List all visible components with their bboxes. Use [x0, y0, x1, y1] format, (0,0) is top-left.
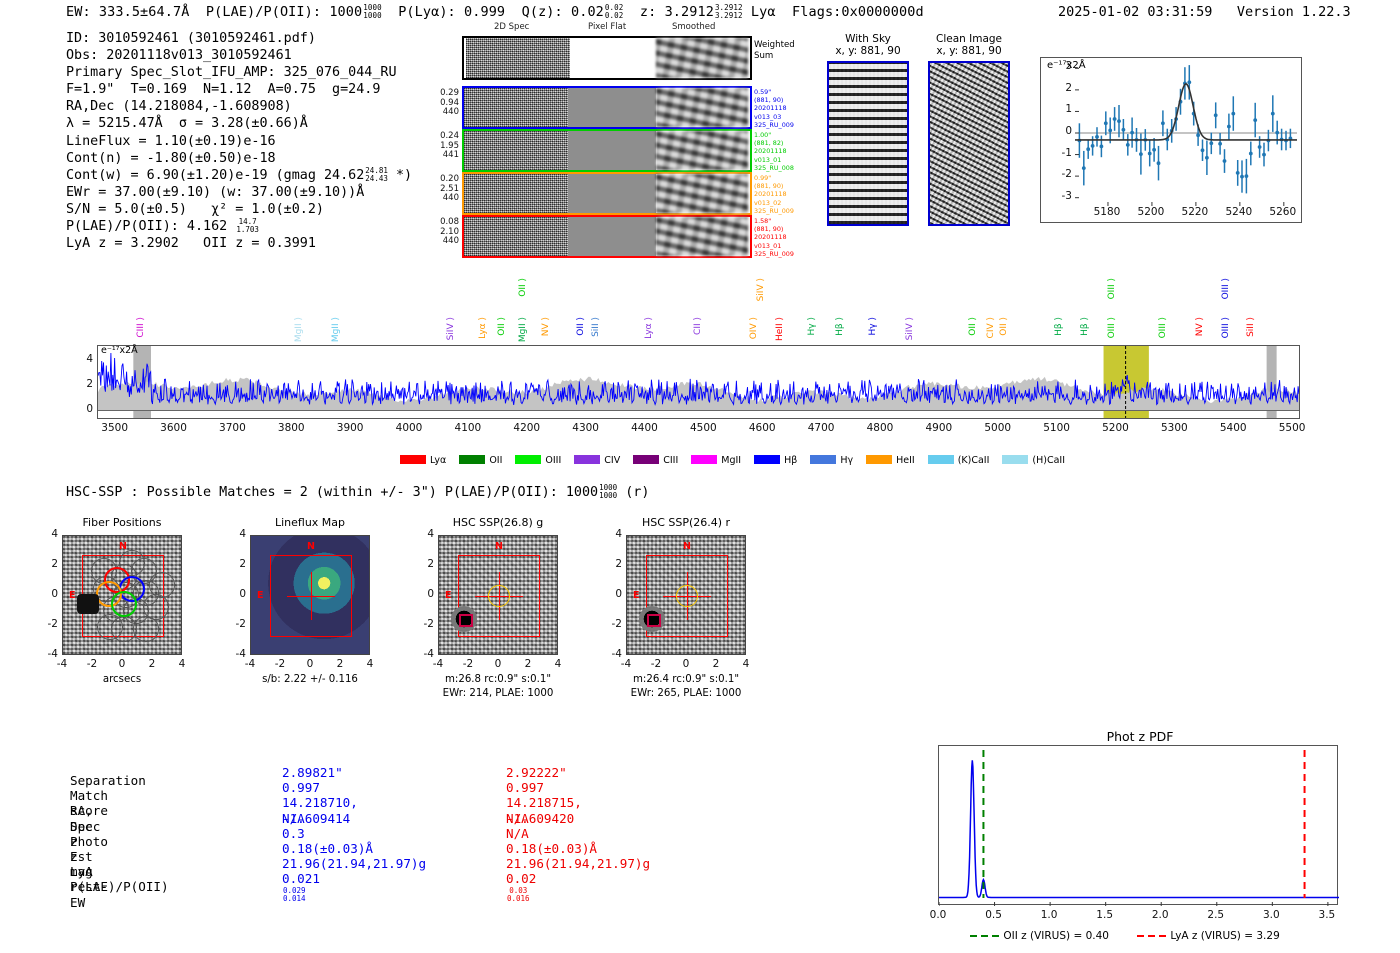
- linefit-ytick: 1: [1058, 103, 1072, 115]
- cutout-panel[interactable]: NE: [626, 535, 746, 655]
- compass-e: E: [257, 590, 264, 601]
- cutout-panel[interactable]: NE: [438, 535, 558, 655]
- cutout-ytick: 0: [42, 588, 58, 600]
- spectrum-xtick: 5500: [1267, 422, 1317, 434]
- linefit-xtick: 5200: [1133, 206, 1169, 218]
- match-row-label-plae: P(LAE)/P(OII): [70, 879, 169, 894]
- linefit-ytick: 2: [1058, 82, 1072, 94]
- clean-image-pixels: [928, 61, 1010, 226]
- spectrum-xtick: 4100: [443, 422, 493, 434]
- emission-line-fit-plot: e⁻¹⁷x2Å: [1040, 57, 1302, 223]
- spectrum-xtick: 3800: [266, 422, 316, 434]
- match-value-red: 0.997: [506, 780, 544, 795]
- clean-image-title: Clean Image: [920, 33, 1018, 45]
- full-spectrum-panel: CIII ⟩MgII ⟩MgII ⟩SiIV ⟩Lyα ⟩OII ⟩MgII ⟩…: [97, 270, 1302, 470]
- cutout-ytick: 4: [230, 528, 246, 540]
- photz-xtick: 1.0: [1031, 909, 1067, 921]
- spectrum-line-mark: MgII ⟩: [519, 317, 528, 342]
- spectrum-line-mark: OIII ⟩: [1159, 317, 1168, 338]
- qz-value: 0.02: [571, 4, 604, 20]
- cutout-ytick: -4: [606, 648, 622, 660]
- cutout-ytick: 2: [606, 558, 622, 570]
- compass-n: N: [683, 541, 691, 552]
- spectrum-line-mark: Hβ ⟩: [1055, 317, 1064, 336]
- spectrum-line-mark: OIII ⟩: [1108, 278, 1117, 299]
- with-sky-coords: x, y: 881, 90: [822, 45, 914, 57]
- legend-label: OIII: [545, 455, 561, 466]
- spectrum-line-mark: CIII ⟩: [137, 317, 146, 338]
- cutout-xtick: 4: [170, 658, 194, 670]
- legend-item: OIII: [515, 455, 561, 466]
- plya-label: P(Lyα):: [398, 4, 456, 20]
- spectrum-xtick: 5000: [973, 422, 1023, 434]
- header-summary-line: EW: 333.5±64.7Å P(LAE)/P(OII): 100010001…: [66, 4, 924, 20]
- match-value-blue: N/A: [282, 811, 305, 826]
- cutout-caption: arcsecs: [32, 673, 212, 686]
- legend-item: HeII: [866, 455, 915, 466]
- match-value-red: N/A: [506, 811, 529, 826]
- spectrum-xtick: 3600: [149, 422, 199, 434]
- cutout-xtick: 2: [704, 658, 728, 670]
- ew-value: 333.5±64.7Å: [99, 4, 190, 20]
- spectrum-line-mark: SiII ⟩: [592, 317, 601, 337]
- compass-n: N: [495, 541, 503, 552]
- aperture-circle: [488, 585, 510, 607]
- legend-label: CIV: [604, 455, 620, 466]
- spectrum-xtick: 4400: [620, 422, 670, 434]
- cutout-ytick: 0: [418, 588, 434, 600]
- with-sky-image: [827, 61, 909, 226]
- photz-xtick: 2.0: [1142, 909, 1178, 921]
- cutout-ytick: -4: [230, 648, 246, 660]
- spectrum-xtick: 3500: [90, 422, 140, 434]
- linefit-ytick: 3: [1058, 60, 1072, 72]
- spectrum-xtick: 5200: [1090, 422, 1140, 434]
- photz-svg: [939, 746, 1339, 906]
- legend-label: Lyα: [430, 455, 446, 466]
- spectrum-line-mark: Hβ ⟩: [836, 317, 845, 336]
- cutout-ytick: 2: [42, 558, 58, 570]
- photz-legend-item: LyA z (VIRUS) = 3.29: [1137, 930, 1280, 942]
- spectrum-xtick: 5400: [1208, 422, 1258, 434]
- plae-range: 10001000: [363, 4, 381, 20]
- cutout-xtick: 2: [328, 658, 352, 670]
- match-row-label: mag: [70, 864, 93, 879]
- match-value-red: 2.92222": [506, 765, 567, 780]
- cutout-xtick: 0: [298, 658, 322, 670]
- plya-value: 0.999: [464, 4, 505, 20]
- with-sky-title: With Sky: [822, 33, 914, 45]
- spectrum-line-mark: CII ⟩: [694, 317, 703, 335]
- fiber-circle-highlighted[interactable]: [111, 591, 137, 617]
- montage-row-meta: 0.99"(881, 90)20201118v013_02325_RU_009: [754, 174, 794, 215]
- spectrum-line-mark: Hβ ⟩: [1081, 317, 1090, 336]
- cutout-xtick: 4: [546, 658, 570, 670]
- match-value-red: N/A: [506, 826, 529, 841]
- spectrum-legend: LyαOIIOIIICIVCIIIMgIIHβHγHeII(K)CaII(H)C…: [400, 455, 1078, 466]
- linefit-ytick: -1: [1058, 147, 1072, 159]
- cutout-xtick: 0: [486, 658, 510, 670]
- spectrum-line-mark: NV ⟩: [542, 317, 551, 336]
- spectrum-xtick: 5100: [1032, 422, 1082, 434]
- legend-item: CIII: [633, 455, 678, 466]
- spectrum-xtick: 4200: [502, 422, 552, 434]
- photz-legend-label: LyA z (VIRUS) = 3.29: [1170, 930, 1279, 942]
- spectrum-line-mark: SiIV ⟩: [906, 317, 915, 340]
- info-plae-range: 14.71.703: [236, 218, 259, 234]
- montage-row-meta: 1.58"(881, 90)20201118v013_01325_RU_009: [754, 217, 794, 258]
- spectrum-xtick: 4500: [678, 422, 728, 434]
- fiber-circle: [97, 614, 123, 640]
- spectrum-svg: [98, 346, 1299, 418]
- info-plae: P(LAE)/P(OII): 4.162 14.71.703: [66, 218, 412, 235]
- photz-xtick: 1.5: [1087, 909, 1123, 921]
- linefit-xtick: 5220: [1177, 206, 1213, 218]
- with-sky-cutout: With Sky x, y: 881, 90: [822, 33, 914, 226]
- spectrum-flux-unit: e⁻¹⁷x2Å: [101, 345, 138, 356]
- z-line-name: Lyα: [751, 4, 776, 20]
- spectrum-xtick: 3900: [325, 422, 375, 434]
- legend-item: Hγ: [810, 455, 853, 466]
- cutout-ytick: 0: [606, 588, 622, 600]
- photz-legend: OII z (VIRUS) = 0.40 LyA z (VIRUS) = 3.2…: [970, 930, 1308, 942]
- photz-xtick: 3.0: [1253, 909, 1289, 921]
- plae-value: 1000: [329, 4, 362, 20]
- match-row-label: Separation: [70, 773, 146, 788]
- spectrum-axes: e⁻¹⁷x2Å: [97, 345, 1300, 419]
- cutout-xtick: -2: [456, 658, 480, 670]
- cutout-caption: m:26.4 rc:0.9" s:0.1": [596, 673, 776, 686]
- cutout-xtick: 2: [140, 658, 164, 670]
- linefit-ytick: 0: [1058, 125, 1072, 137]
- info-lineflux: LineFlux = 1.10(±0.19)e-16: [66, 133, 412, 150]
- cutout-xtick: 2: [516, 658, 540, 670]
- legend-item: Hβ: [754, 455, 797, 466]
- cutout-xtick: 4: [734, 658, 758, 670]
- spectrum-xtick: 4900: [914, 422, 964, 434]
- legend-label: HeII: [896, 455, 915, 466]
- compass-e: E: [445, 590, 452, 601]
- spectrum-line-mark: Hγ ⟩: [869, 317, 878, 335]
- spectrum-line-mark: NV ⟩: [1196, 317, 1205, 336]
- montage-row: 0.241.954411.00"(881, 82)20201118v013_01…: [462, 129, 752, 172]
- version-label: Version 1.22.3: [1237, 4, 1351, 20]
- cutout-ytick: -2: [606, 618, 622, 630]
- aperture-circle: [676, 585, 698, 607]
- photz-xtick: 0.5: [976, 909, 1012, 921]
- spectrum-line-mark: Hγ ⟩: [808, 317, 817, 335]
- match-value-red: 0.18(±0.03)Å: [506, 841, 597, 856]
- legend-label: CIII: [663, 455, 678, 466]
- info-snr-chi2: S/N = 5.0(±0.5) χ² = 1.0(±0.2): [66, 201, 412, 218]
- match-value-blue: 0.997: [282, 780, 320, 795]
- spectrum-line-mark: Lyα ⟩: [645, 317, 654, 339]
- fiber-circle: [149, 572, 175, 598]
- cutout-ytick: -2: [42, 618, 58, 630]
- match-value-blue: 0.3: [282, 826, 305, 841]
- cutout-panel[interactable]: NE: [62, 535, 182, 655]
- legend-label: OII: [489, 455, 502, 466]
- spectrum-xtick: 4800: [855, 422, 905, 434]
- photz-legend-item: OII z (VIRUS) = 0.40: [970, 930, 1109, 942]
- spectrum-line-mark: OIV ⟩: [750, 317, 759, 339]
- z-label: z:: [640, 4, 656, 20]
- linefit-xtick: 5260: [1265, 206, 1301, 218]
- match-plae-blue: 0.0210.0290.014: [282, 871, 320, 903]
- spectrum-ytick: 2: [75, 378, 93, 390]
- spectrum-ytick: 4: [75, 353, 93, 365]
- qz-range: 0.020.02: [605, 4, 623, 20]
- compass-e: E: [633, 590, 640, 601]
- photz-xtick: 0.0: [920, 909, 956, 921]
- match-value-blue: 2.89821": [282, 765, 343, 780]
- col-header-smoothed: Smoothed: [672, 22, 715, 32]
- spectrum-line-mark: OII ⟩: [1000, 317, 1009, 336]
- info-seeing: F=1.9" T=0.169 N=1.12 A=0.75 g=24.9: [66, 81, 412, 98]
- legend-label: Hγ: [840, 455, 853, 466]
- match-marker: [459, 614, 473, 627]
- spectrum-line-mark: OII ⟩: [577, 317, 586, 336]
- info-cont-n: Cont(n) = -1.80(±0.50)e-18: [66, 150, 412, 167]
- emission-line-fit-svg: [1041, 58, 1303, 224]
- target-crosshair-v: [311, 572, 312, 620]
- spectrum-xtick: 5300: [1149, 422, 1199, 434]
- spectrum-line-mark: OII ⟩: [498, 317, 507, 336]
- cutout-xtick: 0: [110, 658, 134, 670]
- photz-pdf-title: Phot z PDF: [940, 729, 1340, 744]
- spectrum-xtick: 4000: [384, 422, 434, 434]
- match-marker: [647, 614, 661, 627]
- info-radec: RA,Dec (14.218084,-1.608908): [66, 98, 412, 115]
- linefit-xtick: 5180: [1089, 206, 1125, 218]
- info-lambda-sigma: λ = 5215.47Å σ = 3.28(±0.66)Å: [66, 115, 412, 132]
- spectrum-line-mark: SiIV ⟩: [447, 317, 456, 340]
- cutout-title: Fiber Positions: [62, 516, 182, 529]
- legend-label: (H)CaII: [1032, 455, 1065, 466]
- gmag-range: 24.8124.43: [365, 167, 388, 183]
- cutout-caption: s/b: 2.22 +/- 0.116: [220, 673, 400, 686]
- spectrum-line-mark: SiII ⟩: [1247, 317, 1256, 337]
- spectrum-line-labels: CIII ⟩MgII ⟩MgII ⟩SiIV ⟩Lyα ⟩OII ⟩MgII ⟩…: [97, 270, 1302, 345]
- col-header-pixelflat: Pixel Flat: [588, 22, 626, 32]
- legend-item: OII: [459, 455, 502, 466]
- spectrum-xtick: 4300: [561, 422, 611, 434]
- cutout-xtick: 0: [674, 658, 698, 670]
- cutout-ytick: 4: [418, 528, 434, 540]
- cutout-caption-2: EWr: 265, PLAE: 1000: [596, 687, 776, 700]
- cutout-ytick: 4: [42, 528, 58, 540]
- montage-row: 0.202.514400.99"(881, 90)20201118v013_02…: [462, 172, 752, 215]
- montage-row-stats: 0.082.10440: [440, 218, 459, 247]
- linefit-xtick: 5240: [1221, 206, 1257, 218]
- source-info-block: ID: 3010592461 (3010592461.pdf) Obs: 202…: [66, 30, 412, 252]
- cutout-title: HSC SSP(26.4) r: [626, 516, 746, 529]
- ew-label: EW:: [66, 4, 91, 20]
- linefit-ytick: -3: [1058, 190, 1072, 202]
- timestamp: 2025-01-02 03:31:59: [1058, 4, 1212, 20]
- montage-row: 0.082.104401.58"(881, 90)20201118v013_01…: [462, 215, 752, 258]
- info-redshifts: LyA z = 3.2902 OII z = 0.3991: [66, 235, 412, 252]
- spectrum-line-mark: MgII ⟩: [295, 317, 304, 342]
- spectrum-xtick: 4700: [796, 422, 846, 434]
- cutout-caption-2: EWr: 214, PLAE: 1000: [408, 687, 588, 700]
- photz-pdf-plot: [938, 745, 1338, 905]
- photz-xtick: 3.5: [1309, 909, 1345, 921]
- montage-row-meta: 1.00"(881, 82)20201118v013_01325_RU_008: [754, 131, 794, 172]
- cutout-ytick: 4: [606, 528, 622, 540]
- info-primary-spec: Primary Spec_Slot_IFU_AMP: 325_076_044_R…: [66, 64, 412, 81]
- spectrum-line-mark: HeII ⟩: [776, 317, 785, 341]
- legend-item: CIV: [574, 455, 620, 466]
- match-value-red: 21.96(21.94,21.97)g: [506, 856, 650, 871]
- cutout-xtick: 4: [358, 658, 382, 670]
- linefit-ytick: -2: [1058, 168, 1072, 180]
- spectrum-line-mark: OII ⟩: [969, 317, 978, 336]
- compass-n: N: [307, 541, 315, 552]
- spectrum-ytick: 0: [75, 403, 93, 415]
- legend-item: Lyα: [400, 455, 446, 466]
- weighted-sum-label: Weighted Sum: [754, 40, 795, 61]
- photz-legend-label: OII z (VIRUS) = 0.40: [1003, 930, 1109, 942]
- match-value-blue: 0.18(±0.03)Å: [282, 841, 373, 856]
- cutout-ytick: 2: [230, 558, 246, 570]
- spectrum-xtick: 3700: [207, 422, 257, 434]
- fiber-circle: [133, 616, 159, 642]
- weighted-sum-row: Weighted Sum: [462, 36, 752, 80]
- spectrum-line-mark: MgII ⟩: [332, 317, 341, 342]
- compass-e: E: [69, 590, 76, 601]
- legend-item: (K)CaII: [928, 455, 990, 466]
- hsc-header-text: HSC-SSP : Possible Matches = 2 (within +…: [66, 485, 598, 500]
- cutout-xtick: -2: [80, 658, 104, 670]
- cutout-xtick: -2: [268, 658, 292, 670]
- match-value-blue: 21.96(21.94,21.97)g: [282, 856, 426, 871]
- info-id: ID: 3010592461 (3010592461.pdf): [66, 30, 412, 47]
- info-obs: Obs: 20201118v013_3010592461: [66, 47, 412, 64]
- info-cont-w: Cont(w) = 6.90(±1.20)e-19 (gmag 24.6224.…: [66, 167, 412, 184]
- cutout-ytick: 0: [230, 588, 246, 600]
- spec-montage: 2D Spec Pixel Flat Smoothed Weighted Sum…: [462, 36, 752, 258]
- col-header-2dspec: 2D Spec: [494, 22, 529, 32]
- match-plae-red: 0.020.030.016: [506, 871, 536, 903]
- legend-item: MgII: [691, 455, 741, 466]
- legend-label: (K)CaII: [958, 455, 990, 466]
- flags-value: Flags:0x0000000d: [792, 4, 924, 20]
- cutout-ytick: -4: [42, 648, 58, 660]
- cutout-caption: m:26.8 rc:0.9" s:0.1": [408, 673, 588, 686]
- spectrum-line-mark: CIV ⟩: [987, 317, 996, 338]
- montage-row-stats: 0.241.95441: [440, 132, 459, 161]
- cutout-ytick: 2: [418, 558, 434, 570]
- cutout-xtick: -2: [644, 658, 668, 670]
- header-timestamp-version: 2025-01-02 03:31:59 Version 1.22.3: [1058, 4, 1351, 20]
- cutout-panel[interactable]: NE: [250, 535, 370, 655]
- z-value: 3.2912: [665, 4, 714, 20]
- hsc-plae-range: 10001000: [599, 484, 617, 500]
- photz-xtick: 2.5: [1198, 909, 1234, 921]
- cutout-ytick: -4: [418, 648, 434, 660]
- clean-image-coords: x, y: 881, 90: [920, 45, 1018, 57]
- neighbor-source: [77, 594, 99, 614]
- z-range: 3.29123.2912: [715, 4, 743, 20]
- cutout-ytick: -2: [418, 618, 434, 630]
- cutout-title: HSC SSP(26.8) g: [438, 516, 558, 529]
- spectrum-line-mark: SiIV ⟩: [757, 278, 766, 301]
- montage-row-meta: 0.59"(881, 90)20201118v013_03325_RU_009: [754, 88, 794, 129]
- qz-label: Q(z):: [522, 4, 563, 20]
- legend-label: Hβ: [784, 455, 797, 466]
- cutout-ytick: -2: [230, 618, 246, 630]
- spectrum-line-mark: OII ⟩: [519, 278, 528, 297]
- montage-row: 0.290.944400.59"(881, 90)20201118v013_03…: [462, 86, 752, 129]
- montage-row-stats: 0.202.51440: [440, 175, 459, 204]
- legend-label: MgII: [721, 455, 741, 466]
- spectrum-line-mark: OIII ⟩: [1222, 278, 1231, 299]
- montage-row-stats: 0.290.94440: [440, 89, 459, 118]
- legend-item: (H)CaII: [1002, 455, 1065, 466]
- hsc-ssp-header: HSC-SSP : Possible Matches = 2 (within +…: [66, 484, 649, 500]
- spectrum-xtick: 4600: [737, 422, 787, 434]
- clean-image-cutout: Clean Image x, y: 881, 90: [920, 33, 1018, 226]
- cutout-title: Lineflux Map: [250, 516, 370, 529]
- spectrum-line-mark: OIII ⟩: [1108, 317, 1117, 338]
- spectrum-line-mark: OIII ⟩: [1222, 317, 1231, 338]
- spectrum-line-mark: Lyα ⟩: [479, 317, 488, 339]
- plae-label: P(LAE)/P(OII):: [206, 4, 321, 20]
- hsc-header-band: (r): [625, 485, 649, 500]
- info-ewr: EWr = 37.00(±9.10) (w: 37.00(±9.10))Å: [66, 184, 412, 201]
